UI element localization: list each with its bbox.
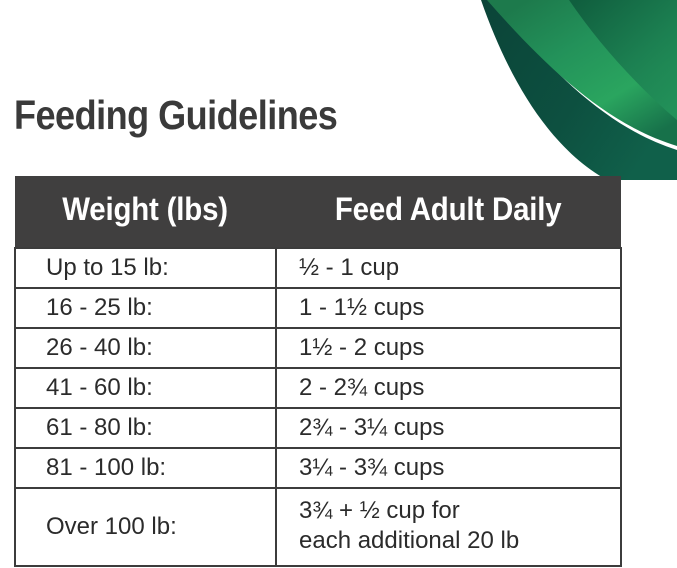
table-row: 16 - 25 lb: 1 - 1½ cups <box>15 288 621 328</box>
feed-value: 1½ - 2 cups <box>277 333 620 363</box>
weight-cell: 61 - 80 lb: <box>15 408 276 448</box>
feed-cell: ½ - 1 cup <box>276 248 621 288</box>
weight-cell: 16 - 25 lb: <box>15 288 276 328</box>
green-swoosh-svg <box>457 0 677 180</box>
feed-cell: 1 - 1½ cups <box>276 288 621 328</box>
feed-value: 2 - 2¾ cups <box>277 373 620 403</box>
feed-cell: 2¾ - 3¼ cups <box>276 408 621 448</box>
feed-value-line2: each additional 20 lb <box>299 526 614 556</box>
feed-value: 3¾ + ½ cup for each additional 20 lb <box>277 489 620 556</box>
column-header-weight-label: Weight (lbs) <box>63 191 229 228</box>
feed-cell: 2 - 2¾ cups <box>276 368 621 408</box>
feed-value: 1 - 1½ cups <box>277 293 620 323</box>
page-title: Feeding Guidelines <box>14 91 337 139</box>
table-row: 61 - 80 lb: 2¾ - 3¼ cups <box>15 408 621 448</box>
table-header-row: Weight (lbs) Feed Adult Daily <box>15 176 621 248</box>
feeding-guidelines-table: Weight (lbs) Feed Adult Daily Up to 15 l… <box>14 176 622 567</box>
weight-cell: 41 - 60 lb: <box>15 368 276 408</box>
table-row: 26 - 40 lb: 1½ - 2 cups <box>15 328 621 368</box>
table-row: 41 - 60 lb: 2 - 2¾ cups <box>15 368 621 408</box>
feed-cell: 3¼ - 3¾ cups <box>276 448 621 488</box>
weight-value: 81 - 100 lb: <box>16 453 275 483</box>
weight-cell: 26 - 40 lb: <box>15 328 276 368</box>
swoosh-main-shape <box>487 0 677 146</box>
feed-value: 2¾ - 3¼ cups <box>277 413 620 443</box>
weight-value: 41 - 60 lb: <box>16 373 275 403</box>
feed-cell: 3¾ + ½ cup for each additional 20 lb <box>276 488 621 566</box>
feed-value: 3¼ - 3¾ cups <box>277 453 620 483</box>
weight-value: 16 - 25 lb: <box>16 293 275 323</box>
table-row: Over 100 lb: 3¾ + ½ cup for each additio… <box>15 488 621 566</box>
weight-cell: Over 100 lb: <box>15 488 276 566</box>
feed-cell: 1½ - 2 cups <box>276 328 621 368</box>
table-body: Up to 15 lb: ½ - 1 cup 16 - 25 lb: 1 - 1… <box>15 248 621 566</box>
weight-cell: Up to 15 lb: <box>15 248 276 288</box>
column-header-weight: Weight (lbs) <box>15 176 276 248</box>
weight-value: Over 100 lb: <box>16 512 275 542</box>
table-header: Weight (lbs) Feed Adult Daily <box>15 176 621 248</box>
weight-cell: 81 - 100 lb: <box>15 448 276 488</box>
column-header-feed: Feed Adult Daily <box>276 176 621 248</box>
feed-value: ½ - 1 cup <box>277 253 620 283</box>
weight-value: 26 - 40 lb: <box>16 333 275 363</box>
swoosh-shadow-edge <box>481 0 677 180</box>
weight-value: 61 - 80 lb: <box>16 413 275 443</box>
swoosh-inner-lobe <box>569 0 677 120</box>
weight-value: Up to 15 lb: <box>16 253 275 283</box>
column-header-feed-label: Feed Adult Daily <box>335 191 562 228</box>
green-swoosh-graphic <box>457 0 677 180</box>
table-row: Up to 15 lb: ½ - 1 cup <box>15 248 621 288</box>
table-row: 81 - 100 lb: 3¼ - 3¾ cups <box>15 448 621 488</box>
feed-value-line1: 3¾ + ½ cup for <box>299 496 614 526</box>
